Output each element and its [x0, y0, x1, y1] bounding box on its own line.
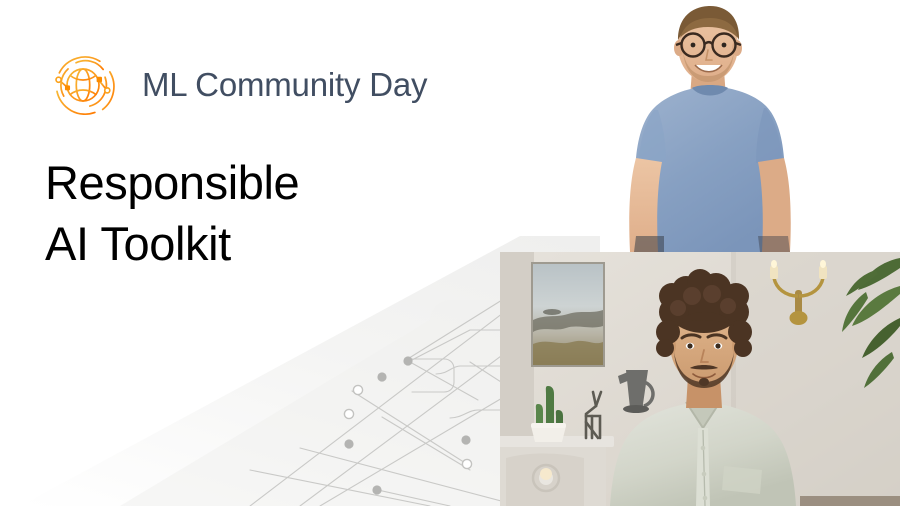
circuit-node-hollow	[344, 385, 471, 468]
brand-lockup: ML Community Day	[42, 44, 427, 126]
framed-seascape-painting	[531, 262, 605, 367]
page-title: Responsible AI Toolkit	[45, 152, 475, 274]
marble-mantelpiece	[500, 436, 614, 506]
presenter-standing-cutout	[600, 0, 900, 252]
speaker-video-feed[interactable]	[500, 252, 900, 506]
globe-orbit-icon	[42, 44, 124, 126]
presentation-slide: ML Community Day Responsible AI Toolkit	[0, 0, 900, 506]
page-title-line-1: Responsible	[45, 152, 475, 213]
brand-name: ML Community Day	[142, 66, 427, 104]
page-title-line-2: AI Toolkit	[45, 213, 475, 274]
